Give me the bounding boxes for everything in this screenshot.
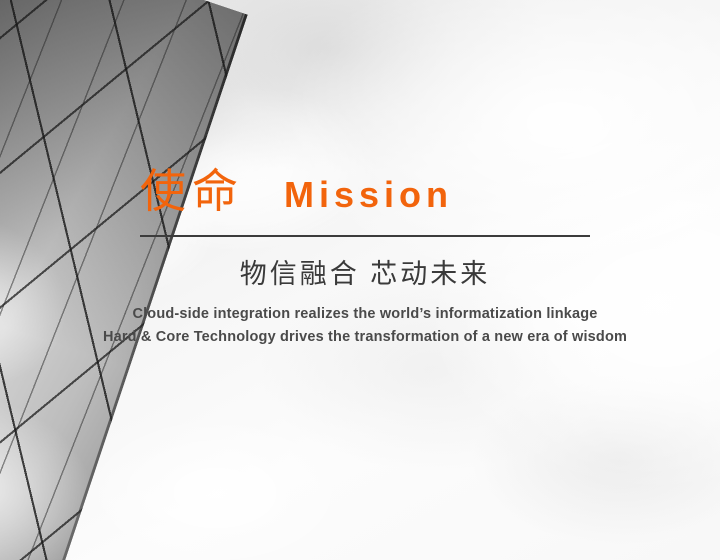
title-divider-line [140, 235, 590, 237]
banner-content: 使命 Mission 物信融合 芯动未来 Cloud-side integrat… [0, 0, 720, 560]
subtitle-chinese: 物信融合 芯动未来 [140, 258, 590, 292]
mission-banner: 使命 Mission 物信融合 芯动未来 Cloud-side integrat… [0, 0, 720, 560]
subtitle-english-line-1: Cloud-side integration realizes the worl… [40, 303, 690, 326]
title-chinese: 使命 [140, 168, 244, 214]
title-english: Mission [284, 177, 453, 213]
subtitle-english-line-2: Hard & Core Technology drives the transf… [40, 326, 690, 349]
banner-title: 使命 Mission [140, 168, 453, 214]
subtitle-english-block: Cloud-side integration realizes the worl… [40, 303, 690, 350]
